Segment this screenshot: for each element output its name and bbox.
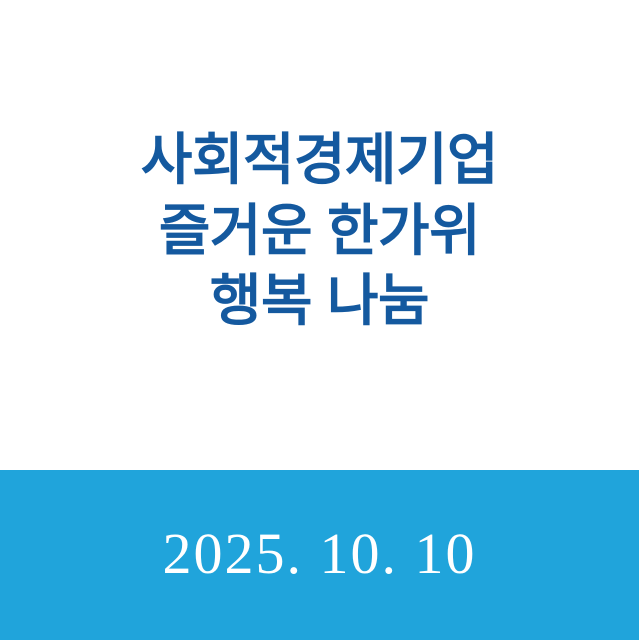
date-banner: 2025. 10. 10 <box>0 470 639 640</box>
headline-line-3: 행복 나눔 <box>0 266 639 337</box>
headline-line-2: 즐거운 한가위 <box>0 196 639 267</box>
headline-block: 사회적경제기업 즐거운 한가위 행복 나눔 <box>0 0 639 470</box>
greeting-card: 사회적경제기업 즐거운 한가위 행복 나눔 2025. 10. 10 <box>0 0 639 640</box>
headline-line-1: 사회적경제기업 <box>0 125 639 196</box>
event-date: 2025. 10. 10 <box>163 525 477 583</box>
